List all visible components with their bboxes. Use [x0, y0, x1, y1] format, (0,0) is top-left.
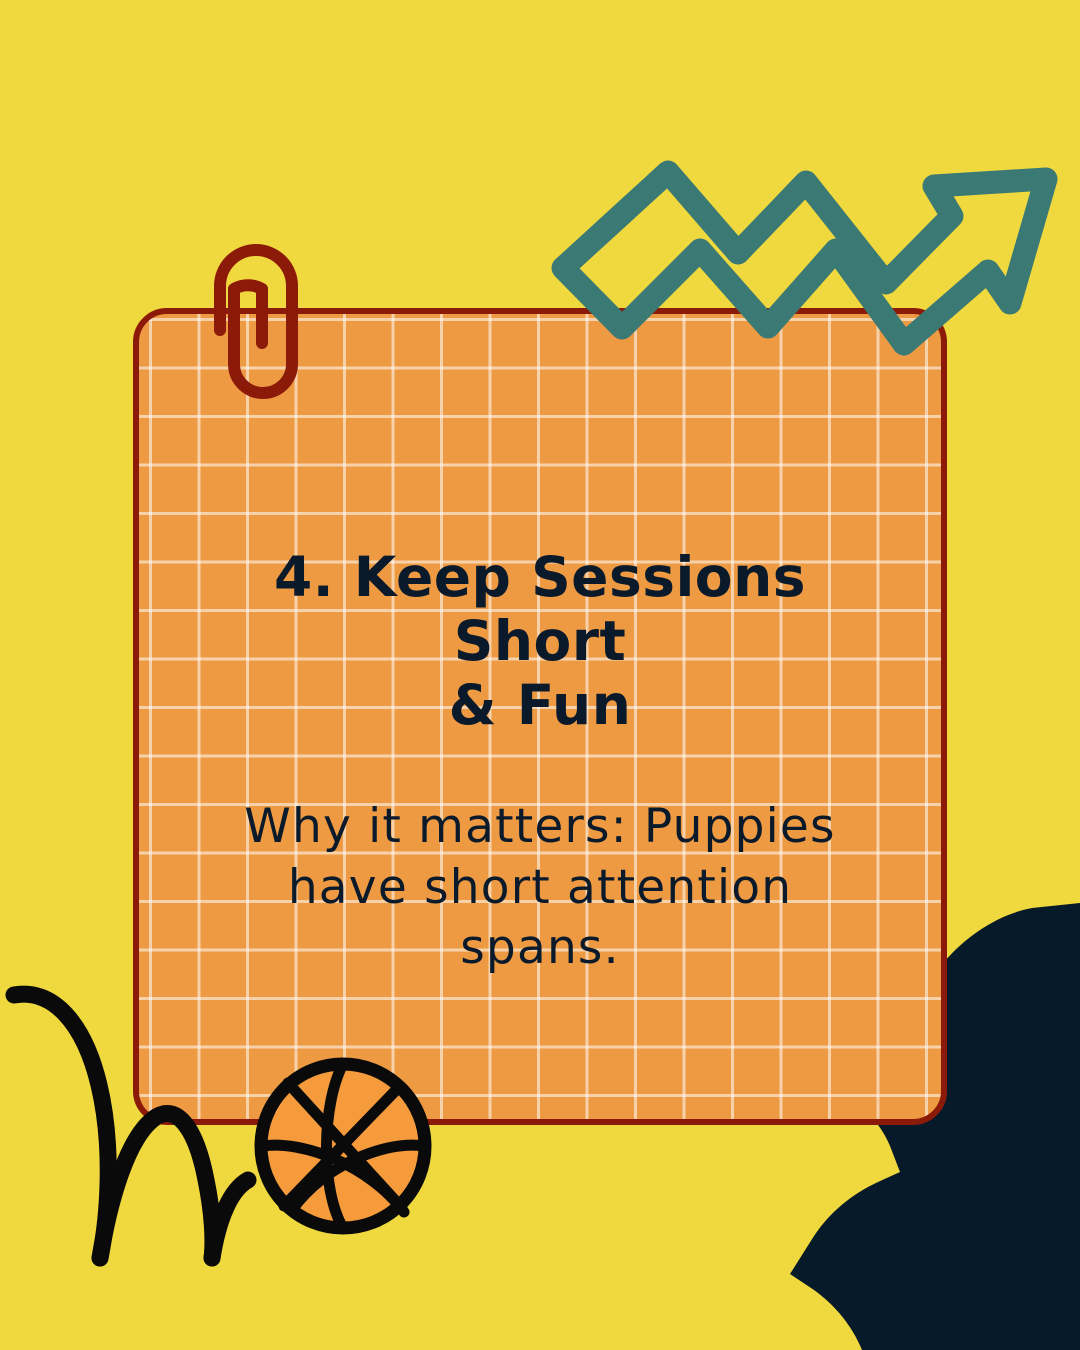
- card-title: 4. Keep Sessions Short & Fun: [181, 546, 899, 737]
- card-text-block: 4. Keep Sessions Short & Fun Why it matt…: [139, 546, 941, 978]
- poster-canvas: 4. Keep Sessions Short & Fun Why it matt…: [0, 0, 1080, 1350]
- note-card: 4. Keep Sessions Short & Fun Why it matt…: [133, 308, 947, 1125]
- card-body-text: Why it matters: Puppies have short atten…: [181, 737, 899, 977]
